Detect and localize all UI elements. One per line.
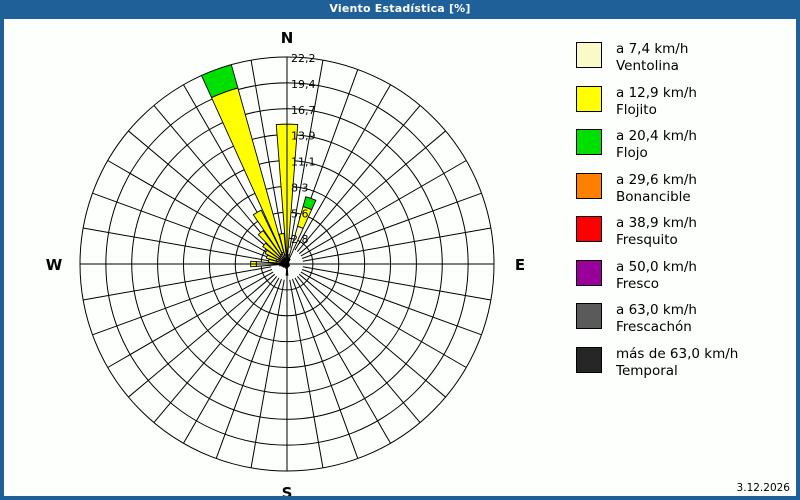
legend-item[interactable]: a 20,4 km/hFlojo bbox=[576, 128, 791, 162]
grid-spoke bbox=[297, 105, 420, 251]
grid-spoke bbox=[299, 131, 445, 254]
wind-rose-window: Viento Estadística [%] 2,85,68,311,113,9… bbox=[0, 0, 800, 500]
radial-tick-label: 22,2 bbox=[291, 52, 316, 65]
legend: a 7,4 km/hVentolinaa 12,9 km/hFlojitoa 2… bbox=[576, 41, 791, 389]
legend-color-swatch bbox=[576, 216, 602, 242]
legend-label: a 12,9 km/hFlojito bbox=[616, 85, 697, 119]
radial-tick-label: 5,6 bbox=[291, 207, 309, 220]
legend-label: a 29,6 km/hBonancible bbox=[616, 172, 697, 206]
window-title: Viento Estadística [%] bbox=[329, 0, 470, 18]
radial-tick-label: 13,9 bbox=[291, 130, 316, 143]
legend-label-name: Bonancible bbox=[616, 189, 697, 206]
legend-label-name: Temporal bbox=[616, 363, 738, 380]
legend-label-name: Fresquito bbox=[616, 232, 697, 249]
compass-label-east: E bbox=[515, 256, 525, 274]
legend-label-name: Frescachón bbox=[616, 319, 697, 336]
legend-label-speed: a 20,4 km/h bbox=[616, 128, 697, 144]
polar-axes bbox=[80, 57, 494, 471]
legend-label-speed: a 7,4 km/h bbox=[616, 41, 688, 57]
legend-item[interactable]: a 50,0 km/hFresco bbox=[576, 259, 791, 293]
legend-color-swatch bbox=[576, 173, 602, 199]
legend-item[interactable]: a 29,6 km/hBonancible bbox=[576, 172, 791, 206]
content-pane: 2,85,68,311,113,916,719,422,2 NSEW a 7,4… bbox=[3, 18, 797, 497]
grid-spoke bbox=[83, 228, 271, 261]
legend-label: a 63,0 km/hFrescachón bbox=[616, 302, 697, 336]
grid-spoke bbox=[154, 276, 277, 422]
radial-tick-label: 19,4 bbox=[291, 78, 316, 91]
legend-color-swatch bbox=[576, 129, 602, 155]
legend-color-swatch bbox=[576, 347, 602, 373]
radial-tick-label: 16,7 bbox=[291, 104, 316, 117]
compass-label-south: S bbox=[282, 484, 293, 496]
legend-label-speed: a 12,9 km/h bbox=[616, 85, 697, 101]
compass-label-north: N bbox=[281, 29, 294, 47]
grid-spoke bbox=[128, 274, 274, 397]
legend-label-speed: a 50,0 km/h bbox=[616, 259, 697, 275]
wind-rose-chart: 2,85,68,311,113,916,719,422,2 NSEW bbox=[4, 19, 564, 496]
legend-label: a 7,4 km/hVentolina bbox=[616, 41, 688, 75]
legend-label-name: Flojo bbox=[616, 145, 697, 162]
compass-label-west: W bbox=[46, 256, 63, 274]
legend-label-name: Flojito bbox=[616, 102, 697, 119]
legend-item[interactable]: a 7,4 km/hVentolina bbox=[576, 41, 791, 75]
legend-label: a 20,4 km/hFlojo bbox=[616, 128, 697, 162]
legend-item[interactable]: a 12,9 km/hFlojito bbox=[576, 85, 791, 119]
legend-label-speed: a 63,0 km/h bbox=[616, 302, 697, 318]
legend-color-swatch bbox=[576, 42, 602, 68]
legend-label-name: Ventolina bbox=[616, 58, 688, 75]
legend-label-speed: a 38,9 km/h bbox=[616, 215, 697, 231]
legend-color-swatch bbox=[576, 260, 602, 286]
legend-item[interactable]: a 63,0 km/hFrescachón bbox=[576, 302, 791, 336]
legend-label: a 50,0 km/hFresco bbox=[616, 259, 697, 293]
legend-label-speed: más de 63,0 km/h bbox=[616, 346, 738, 362]
chart-date: 3.12.2026 bbox=[737, 482, 790, 494]
legend-label: a 38,9 km/hFresquito bbox=[616, 215, 697, 249]
radial-tick-label: 2,8 bbox=[291, 233, 309, 246]
wind-rose-svg: 2,85,68,311,113,916,719,422,2 NSEW bbox=[4, 19, 564, 496]
legend-label-name: Fresco bbox=[616, 276, 697, 293]
legend-color-swatch bbox=[576, 303, 602, 329]
rose-petal-segment bbox=[212, 88, 284, 253]
radial-tick-label: 8,3 bbox=[291, 181, 309, 194]
grid-spoke bbox=[299, 274, 445, 397]
legend-item[interactable]: a 38,9 km/hFresquito bbox=[576, 215, 791, 249]
grid-spoke bbox=[83, 267, 271, 300]
legend-label-speed: a 29,6 km/h bbox=[616, 172, 697, 188]
grid-spoke bbox=[290, 280, 323, 468]
window-titlebar: Viento Estadística [%] bbox=[0, 0, 800, 18]
rose-petal-segment bbox=[289, 259, 291, 261]
radial-tick-label: 11,1 bbox=[291, 156, 316, 169]
legend-color-swatch bbox=[576, 86, 602, 112]
grid-spoke bbox=[303, 228, 491, 261]
legend-item[interactable]: más de 63,0 km/hTemporal bbox=[576, 346, 791, 380]
legend-label: más de 63,0 km/hTemporal bbox=[616, 346, 738, 380]
grid-spoke bbox=[297, 276, 420, 422]
grid-spoke bbox=[303, 267, 491, 300]
grid-spoke bbox=[251, 280, 284, 468]
